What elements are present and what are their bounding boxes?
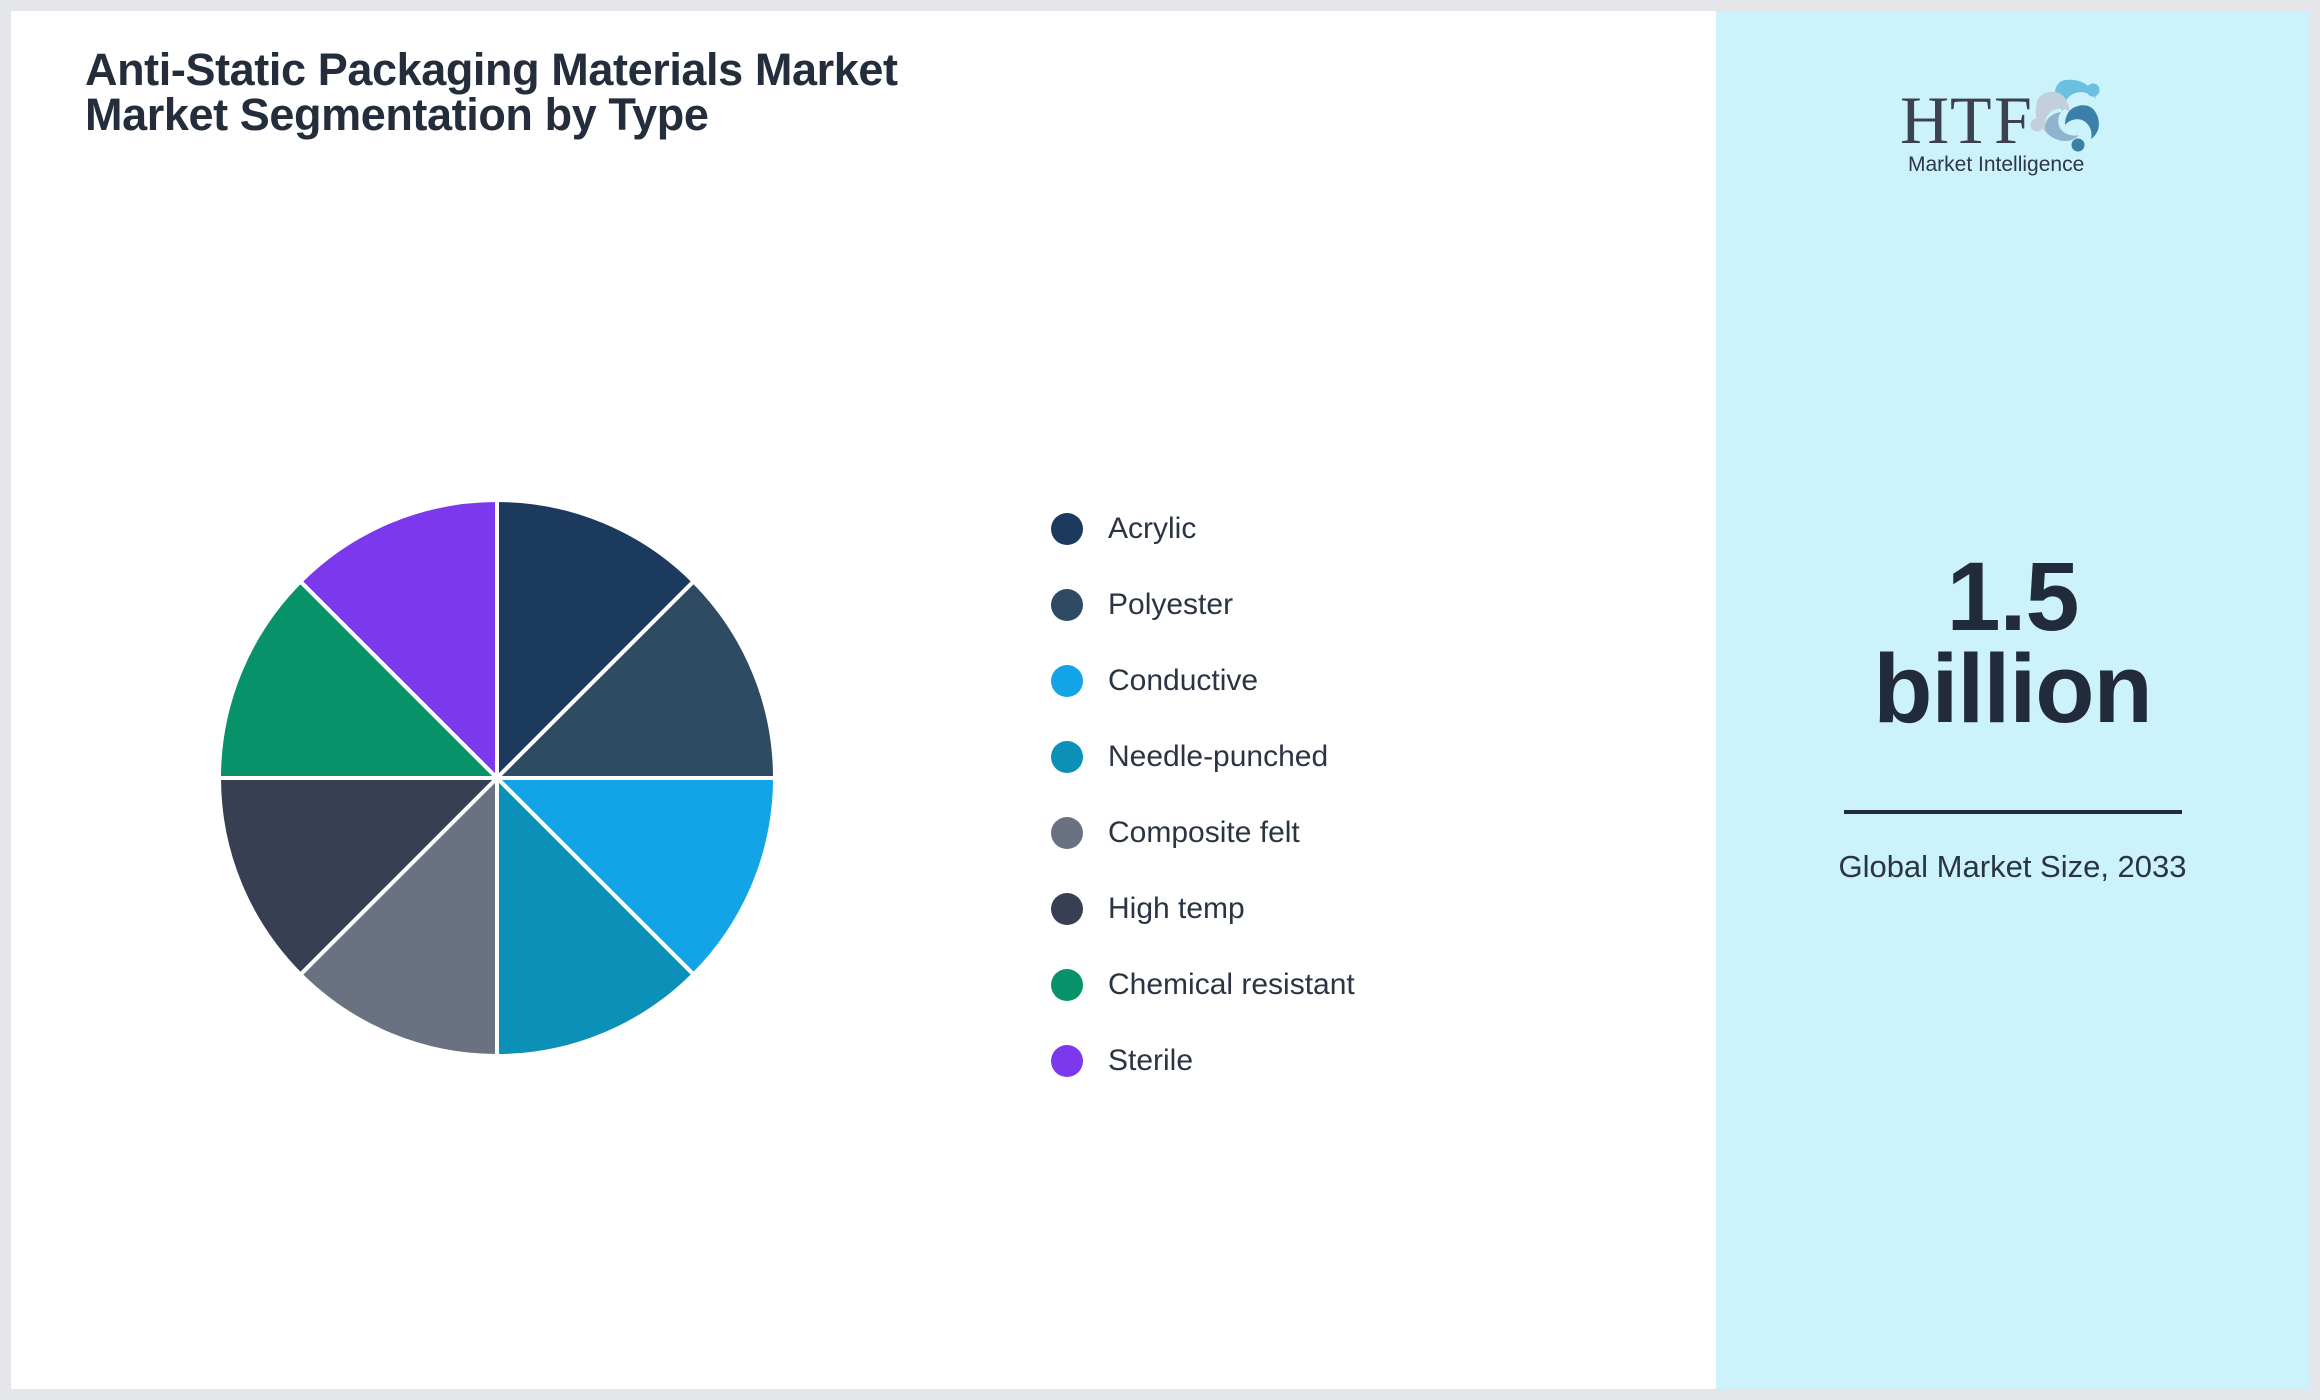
htf-swirl-logo-icon: H T F Market Intelli [1898, 69, 2128, 177]
legend-item[interactable]: Chemical resistant [1051, 947, 1355, 1023]
legend-item-label: Sterile [1108, 1044, 1193, 1078]
svg-text:F: F [1994, 82, 2032, 158]
stat-caption: Global Market Size, 2033 [1838, 850, 2186, 884]
legend-item-label: Conductive [1108, 664, 1258, 698]
legend-swatch-icon [1051, 513, 1083, 545]
legend-swatch-icon [1051, 1045, 1083, 1077]
legend-item[interactable]: High temp [1051, 871, 1355, 947]
legend-item[interactable]: Acrylic [1051, 491, 1355, 567]
legend-item[interactable]: Composite felt [1051, 795, 1355, 871]
legend-item-label: High temp [1108, 892, 1245, 926]
legend-item-label: Chemical resistant [1108, 968, 1355, 1002]
svg-text:T: T [1950, 82, 1992, 158]
legend-swatch-icon [1051, 665, 1083, 697]
legend-item-label: Composite felt [1108, 816, 1300, 850]
legend-item[interactable]: Sterile [1051, 1023, 1355, 1099]
legend-swatch-icon [1051, 741, 1083, 773]
stat-block: 1.5 billion Global Market Size, 2033 [1716, 551, 2309, 884]
chart-pane: Anti-Static Packaging Materials Market M… [11, 11, 1716, 1389]
brand-logo: H T F Market Intelli [1716, 69, 2309, 177]
stat-value: 1.5 billion [1803, 551, 2223, 735]
infographic-root: Anti-Static Packaging Materials Market M… [0, 0, 2320, 1400]
stat-divider [1844, 810, 2182, 814]
svg-text:H: H [1900, 82, 1949, 158]
chart-legend: AcrylicPolyesterConductiveNeedle-punched… [1051, 491, 1355, 1099]
legend-item[interactable]: Conductive [1051, 643, 1355, 719]
pie-slice-group [219, 500, 775, 1056]
pie-chart [207, 488, 787, 1068]
legend-item-label: Needle-punched [1108, 740, 1328, 774]
legend-item[interactable]: Needle-punched [1051, 719, 1355, 795]
legend-swatch-icon [1051, 817, 1083, 849]
page-title: Anti-Static Packaging Materials Market M… [85, 47, 965, 137]
stat-pane: H T F Market Intelli [1716, 11, 2309, 1389]
title-block: Anti-Static Packaging Materials Market M… [85, 47, 965, 137]
svg-text:Market Intelligence: Market Intelligence [1908, 153, 2084, 176]
legend-item-label: Polyester [1108, 588, 1233, 622]
htf-logo-icon: H T F Market Intelli [1898, 69, 2128, 177]
legend-swatch-icon [1051, 893, 1083, 925]
legend-item-label: Acrylic [1108, 512, 1196, 546]
legend-swatch-icon [1051, 589, 1083, 621]
legend-swatch-icon [1051, 969, 1083, 1001]
pie-chart-svg [207, 488, 787, 1068]
legend-item[interactable]: Polyester [1051, 567, 1355, 643]
